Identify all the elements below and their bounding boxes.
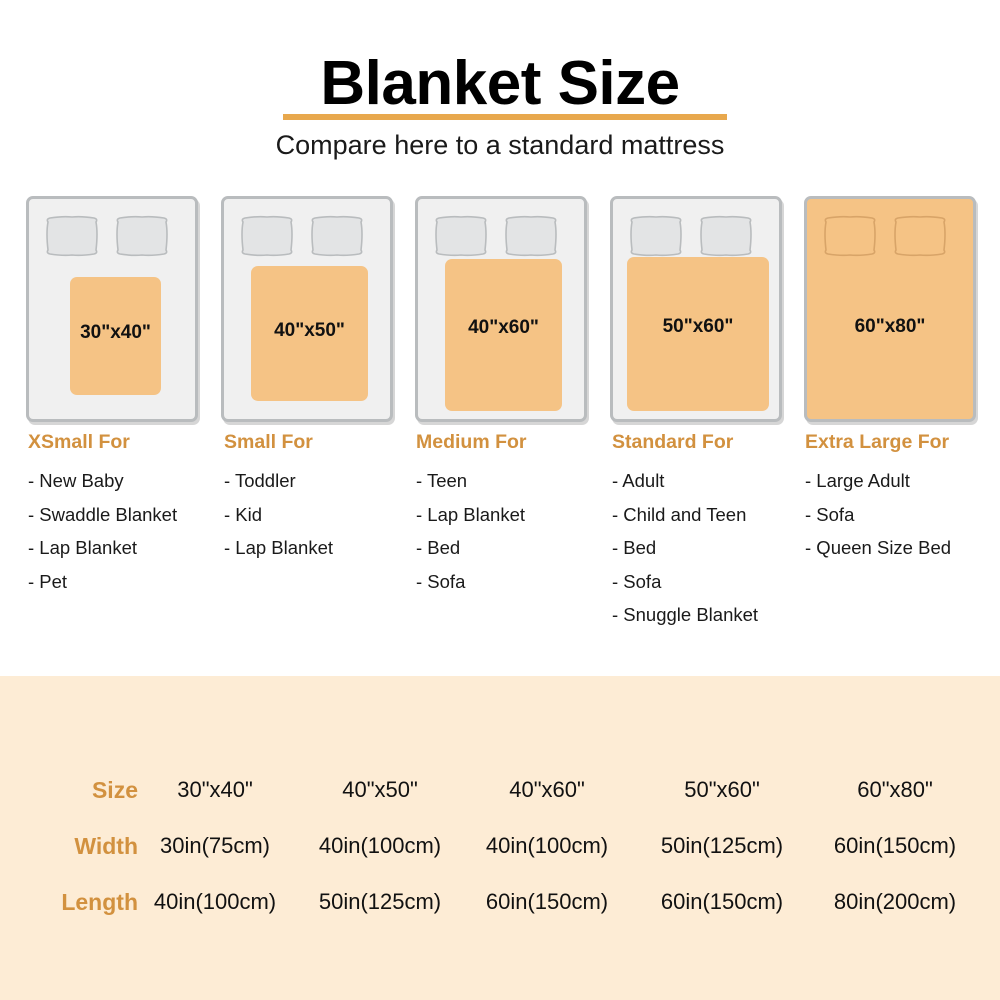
blanket-shape: 50"x60": [627, 257, 769, 411]
table-cell: 60in(150cm): [462, 874, 632, 930]
table-cell: 40in(100cm): [130, 874, 300, 930]
description-item: - Sofa: [416, 565, 616, 599]
description-column-standard: Standard For - Adult - Child and Teen - …: [612, 430, 812, 632]
mattress-shape: 30"x40": [26, 196, 198, 422]
table-cell: 40"x60": [462, 762, 632, 818]
title-underline-rule: [283, 114, 727, 120]
row-header-size: Size: [0, 762, 146, 818]
mattress-shape: 50"x60": [610, 196, 782, 422]
page-title: Blanket Size: [0, 52, 1000, 116]
description-item: - Teen: [416, 464, 616, 498]
pillow-icon: [627, 215, 685, 257]
description-heading: Standard For: [612, 430, 812, 454]
description-column-extra-large: Extra Large For - Large Adult - Sofa - Q…: [805, 430, 1000, 565]
description-item: - Child and Teen: [612, 498, 812, 532]
table-cell: 50in(125cm): [637, 818, 807, 874]
blanket-shape: 30"x40": [70, 277, 161, 395]
pillow-icon: [238, 215, 296, 257]
pillow-icon: [821, 215, 879, 257]
table-cell: 60in(150cm): [810, 818, 980, 874]
pillow-icon: [432, 215, 490, 257]
description-columns: XSmall For - New Baby - Swaddle Blanket …: [0, 430, 1000, 660]
bed-diagram-row: 30"x40" 40"x50": [0, 196, 1000, 428]
description-item: - Snuggle Blanket: [612, 598, 812, 632]
blanket-size-label: 60"x80": [807, 316, 973, 338]
blanket-size-label: 40"x60": [445, 317, 562, 339]
description-item: - Queen Size Bed: [805, 531, 1000, 565]
description-item: - Toddler: [224, 464, 424, 498]
bed-diagram-extra-large: 60"x80": [804, 196, 980, 428]
pillow-icon: [43, 215, 101, 257]
row-header-width: Width: [0, 818, 146, 874]
pillow-icon: [697, 215, 755, 257]
table-cell: 60in(150cm): [637, 874, 807, 930]
table-cell: 30in(75cm): [130, 818, 300, 874]
description-item: - Sofa: [805, 498, 1000, 532]
pillow-icon: [308, 215, 366, 257]
description-column-small: Small For - Toddler - Kid - Lap Blanket: [224, 430, 424, 565]
row-header-length: Length: [0, 874, 146, 930]
description-item: - Lap Blanket: [224, 531, 424, 565]
description-item: - Adult: [612, 464, 812, 498]
blanket-size-infographic: Blanket Size Compare here to a standard …: [0, 0, 1000, 1000]
blanket-shape: 40"x60": [445, 259, 562, 411]
page-subtitle: Compare here to a standard mattress: [0, 128, 1000, 162]
description-heading: XSmall For: [28, 430, 228, 454]
table-cell: 40in(100cm): [462, 818, 632, 874]
pillow-icon: [891, 215, 949, 257]
table-row: Length 40in(100cm) 50in(125cm) 60in(150c…: [0, 874, 1000, 930]
description-column-xsmall: XSmall For - New Baby - Swaddle Blanket …: [28, 430, 228, 598]
table-cell: 50in(125cm): [295, 874, 465, 930]
blanket-size-label: 30"x40": [70, 322, 161, 344]
bed-diagram-medium: 40"x60": [415, 196, 591, 428]
blanket-size-label: 40"x50": [251, 320, 368, 342]
description-item: - Lap Blanket: [416, 498, 616, 532]
bed-diagram-xsmall: 30"x40": [26, 196, 202, 428]
description-item: - Large Adult: [805, 464, 1000, 498]
table-row: Width 30in(75cm) 40in(100cm) 40in(100cm)…: [0, 818, 1000, 874]
spec-table: Size 30"x40" 40"x50" 40"x60" 50"x60" 60"…: [0, 762, 1000, 930]
description-item: - Pet: [28, 565, 228, 599]
description-item: - Lap Blanket: [28, 531, 228, 565]
description-heading: Small For: [224, 430, 424, 454]
table-cell: 30"x40": [130, 762, 300, 818]
header: Blanket Size Compare here to a standard …: [0, 0, 1000, 180]
description-item: - Sofa: [612, 565, 812, 599]
pillow-icon: [502, 215, 560, 257]
table-cell: 80in(200cm): [810, 874, 980, 930]
table-cell: 50"x60": [637, 762, 807, 818]
spec-table-band: Size 30"x40" 40"x50" 40"x60" 50"x60" 60"…: [0, 676, 1000, 1000]
table-cell: 60"x80": [810, 762, 980, 818]
table-cell: 40in(100cm): [295, 818, 465, 874]
mattress-shape: 40"x60": [415, 196, 587, 422]
blanket-shape: 40"x50": [251, 266, 368, 401]
description-column-medium: Medium For - Teen - Lap Blanket - Bed - …: [416, 430, 616, 598]
mattress-shape: 40"x50": [221, 196, 393, 422]
bed-diagram-standard: 50"x60": [610, 196, 786, 428]
description-heading: Medium For: [416, 430, 616, 454]
description-heading: Extra Large For: [805, 430, 1000, 454]
mattress-shape: 60"x80": [804, 196, 976, 422]
blanket-size-label: 50"x60": [627, 316, 769, 338]
description-item: - Kid: [224, 498, 424, 532]
description-item: - Bed: [416, 531, 616, 565]
table-row: Size 30"x40" 40"x50" 40"x60" 50"x60" 60"…: [0, 762, 1000, 818]
bed-diagram-small: 40"x50": [221, 196, 397, 428]
description-item: - Bed: [612, 531, 812, 565]
description-item: - New Baby: [28, 464, 228, 498]
pillow-icon: [113, 215, 171, 257]
table-cell: 40"x50": [295, 762, 465, 818]
description-item: - Swaddle Blanket: [28, 498, 228, 532]
